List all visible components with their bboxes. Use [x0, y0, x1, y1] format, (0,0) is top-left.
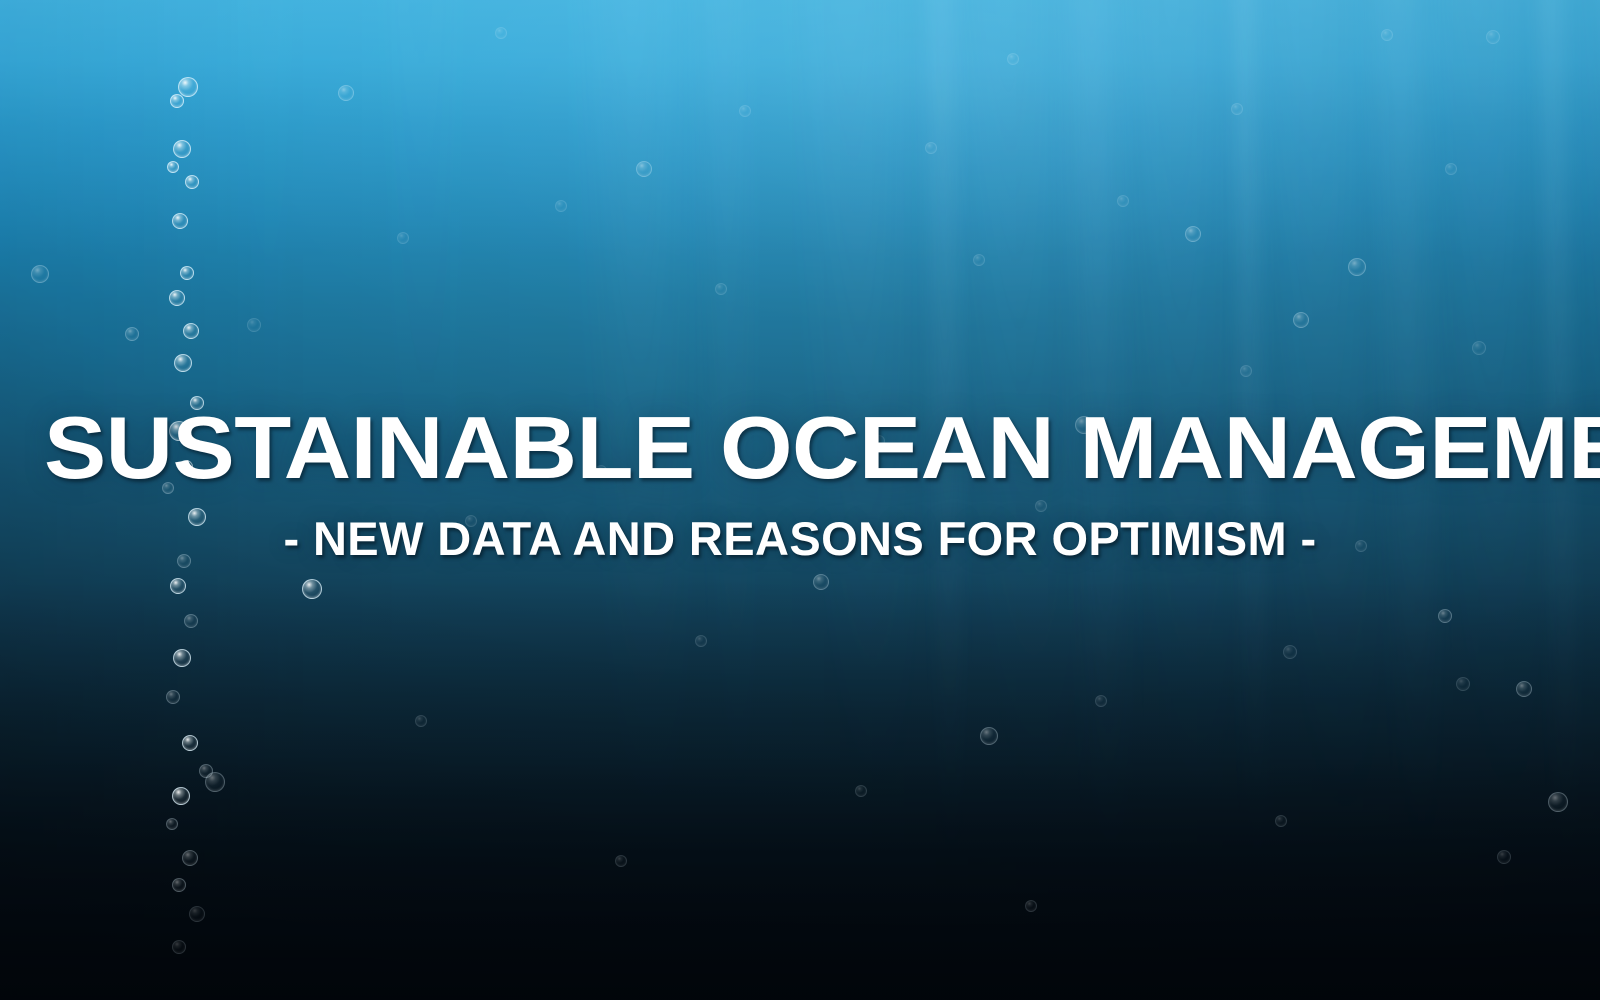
- bubble: [1486, 30, 1500, 44]
- bubble: [973, 254, 985, 266]
- bubble: [739, 105, 751, 117]
- bubble: [172, 940, 186, 954]
- bubble: [715, 283, 727, 295]
- bubble: [166, 818, 178, 830]
- bubble: [813, 574, 829, 590]
- bubble: [1472, 341, 1486, 355]
- bubble: [174, 354, 192, 372]
- bubble: [183, 323, 199, 339]
- bubble: [415, 715, 427, 727]
- bubble: [1007, 53, 1019, 65]
- bubble: [172, 878, 186, 892]
- bubble: [1293, 312, 1309, 328]
- bubble: [167, 161, 179, 173]
- bubble: [182, 735, 198, 751]
- bubble: [555, 200, 567, 212]
- bubble: [925, 142, 937, 154]
- bubble: [182, 850, 198, 866]
- bubble: [302, 579, 322, 599]
- page-subtitle: - NEW DATA AND REASONS FOR OPTIMISM -: [0, 509, 1600, 569]
- bubble: [170, 94, 184, 108]
- bubble: [1095, 695, 1107, 707]
- page-title: SUSTAINABLE OCEAN MANAGEMENT: [44, 399, 1600, 497]
- bubble: [1025, 900, 1037, 912]
- bubble: [1548, 792, 1568, 812]
- bubble: [1240, 365, 1252, 377]
- bubble: [184, 614, 198, 628]
- bubble: [980, 727, 998, 745]
- bubble: [173, 140, 191, 158]
- bubbles-group: [0, 0, 1600, 1000]
- bubble: [338, 85, 354, 101]
- bubble: [1456, 677, 1470, 691]
- bubble: [172, 787, 190, 805]
- bubble: [180, 266, 194, 280]
- bubble: [31, 265, 49, 283]
- bubble: [1516, 681, 1532, 697]
- bubble: [1438, 609, 1452, 623]
- bubble: [247, 318, 261, 332]
- bubble: [1275, 815, 1287, 827]
- title-slide: SUSTAINABLE OCEAN MANAGEMENT - NEW DATA …: [0, 0, 1600, 1000]
- bubble: [1231, 103, 1243, 115]
- bubble: [1445, 163, 1457, 175]
- bubble: [173, 649, 191, 667]
- bubble: [125, 327, 139, 341]
- bubble: [615, 855, 627, 867]
- bubble: [205, 772, 225, 792]
- bubble: [185, 175, 199, 189]
- bubble: [178, 77, 198, 97]
- bubble: [636, 161, 652, 177]
- bubble: [169, 290, 185, 306]
- bubble: [495, 27, 507, 39]
- bubble: [170, 578, 186, 594]
- bubble: [189, 906, 205, 922]
- bubble: [855, 785, 867, 797]
- bubble: [1497, 850, 1511, 864]
- bubble: [1185, 226, 1201, 242]
- bubble: [397, 232, 409, 244]
- bubble: [695, 635, 707, 647]
- bubble: [172, 213, 188, 229]
- bubble: [1381, 29, 1393, 41]
- bubble: [1117, 195, 1129, 207]
- bubble: [1283, 645, 1297, 659]
- bubble: [1348, 258, 1366, 276]
- bubble: [166, 690, 180, 704]
